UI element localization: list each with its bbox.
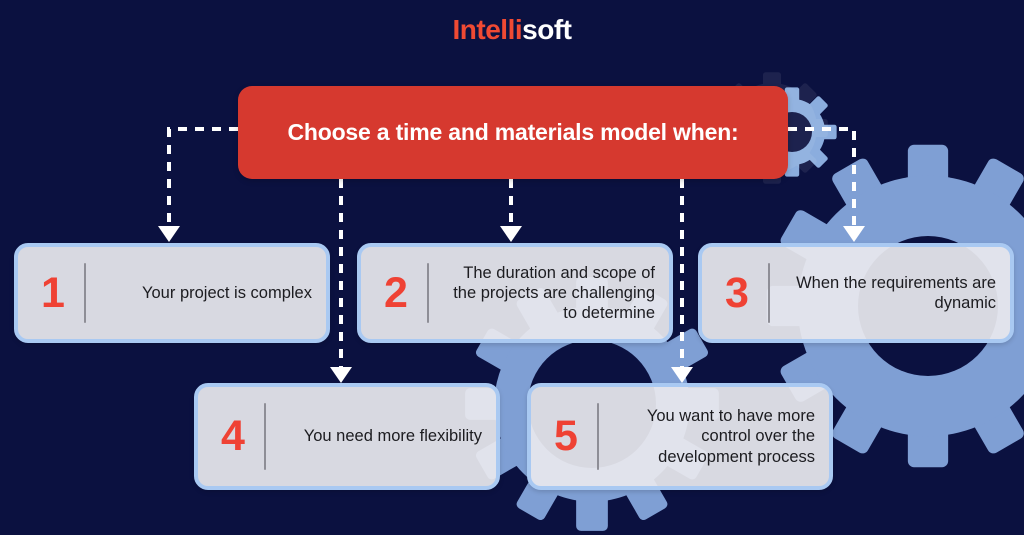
- infographic-canvas: Intellisoft Choose a time and materials …: [0, 0, 1024, 535]
- list-item-card-5[interactable]: 5 You want to have more control over the…: [527, 383, 833, 490]
- card-number: 4: [198, 387, 264, 486]
- arrowhead-card-5: [671, 367, 693, 383]
- connector-to-card-1: [169, 129, 238, 228]
- brand-name-primary: Intelli: [453, 14, 523, 45]
- card-number: 2: [361, 247, 427, 339]
- banner-title: Choose a time and materials model when:: [265, 119, 760, 146]
- card-label: You want to have more control over the d…: [599, 387, 829, 486]
- card-label: You need more flexibility: [266, 387, 496, 486]
- list-item-card-2[interactable]: 2 The duration and scope of the projects…: [357, 243, 673, 343]
- card-number: 5: [531, 387, 597, 486]
- arrowhead-card-1: [158, 226, 180, 242]
- card-label: The duration and scope of the projects a…: [429, 247, 669, 339]
- arrowhead-card-4: [330, 367, 352, 383]
- card-number: 3: [702, 247, 768, 339]
- brand-name-secondary: soft: [522, 14, 571, 45]
- brand-logo: Intellisoft: [0, 14, 1024, 46]
- card-number: 1: [18, 247, 84, 339]
- card-label: When the requirements are dynamic: [770, 247, 1010, 339]
- header-banner: Choose a time and materials model when:: [238, 86, 788, 179]
- list-item-card-1[interactable]: 1 Your project is complex: [14, 243, 330, 343]
- list-item-card-3[interactable]: 3 When the requirements are dynamic: [698, 243, 1014, 343]
- arrowhead-card-2: [500, 226, 522, 242]
- arrowhead-card-3: [843, 226, 865, 242]
- connector-to-card-3: [788, 129, 854, 228]
- card-label: Your project is complex: [86, 247, 326, 339]
- list-item-card-4[interactable]: 4 You need more flexibility: [194, 383, 500, 490]
